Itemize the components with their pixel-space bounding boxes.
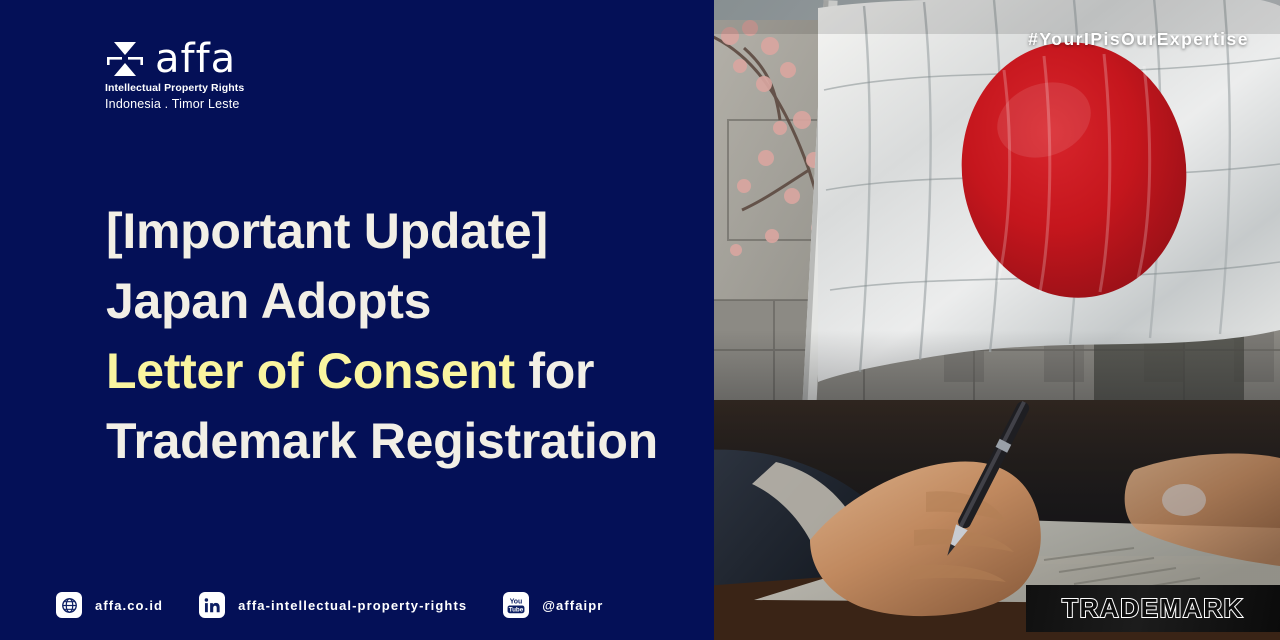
svg-text:You: You: [510, 598, 523, 605]
logo-countries: Indonesia . Timor Leste: [105, 97, 240, 111]
social-links-bar: affa.co.id affa-intellectual-property-ri…: [56, 592, 603, 618]
hero-photo-panel: #YourIPisOurExpertise TRADEMARK: [714, 0, 1280, 640]
social-label-linkedin: affa-intellectual-property-rights: [238, 598, 467, 613]
social-link-website[interactable]: affa.co.id: [56, 592, 163, 618]
headline-block: [Important Update] Japan Adopts Letter o…: [106, 196, 706, 476]
social-link-youtube[interactable]: You Tube @affaipr: [503, 592, 603, 618]
trademark-badge: TRADEMARK: [1026, 585, 1280, 632]
japan-flag-signing-photo: [714, 0, 1280, 640]
headline-line-3-rest: for: [515, 343, 594, 399]
headline-line-4: Trademark Registration: [106, 406, 706, 476]
hashtag-tagline: #YourIPisOurExpertise: [1028, 29, 1249, 50]
affa-hourglass-logomark: [104, 38, 146, 80]
youtube-icon: You Tube: [503, 592, 529, 618]
brand-logo[interactable]: affa Intellectual Property Rights Indone…: [104, 38, 244, 111]
linkedin-icon: [199, 592, 225, 618]
svg-text:Tube: Tube: [509, 606, 524, 613]
promotional-banner: affa Intellectual Property Rights Indone…: [0, 0, 1280, 640]
headline-line-3: Letter of Consent for: [106, 336, 706, 406]
social-label-youtube: @affaipr: [542, 598, 603, 613]
social-label-website: affa.co.id: [95, 598, 163, 613]
logo-wordmark: affa: [155, 39, 236, 79]
social-link-linkedin[interactable]: affa-intellectual-property-rights: [199, 592, 467, 618]
left-content-panel: affa Intellectual Property Rights Indone…: [0, 0, 714, 640]
headline-line-1: [Important Update]: [106, 196, 706, 266]
logo-row: affa: [104, 38, 236, 80]
globe-icon: [56, 592, 82, 618]
trademark-badge-label: TRADEMARK: [1062, 593, 1244, 624]
headline-accent-text: Letter of Consent: [106, 343, 515, 399]
logo-tagline: Intellectual Property Rights: [105, 82, 244, 94]
headline-line-2: Japan Adopts: [106, 266, 706, 336]
